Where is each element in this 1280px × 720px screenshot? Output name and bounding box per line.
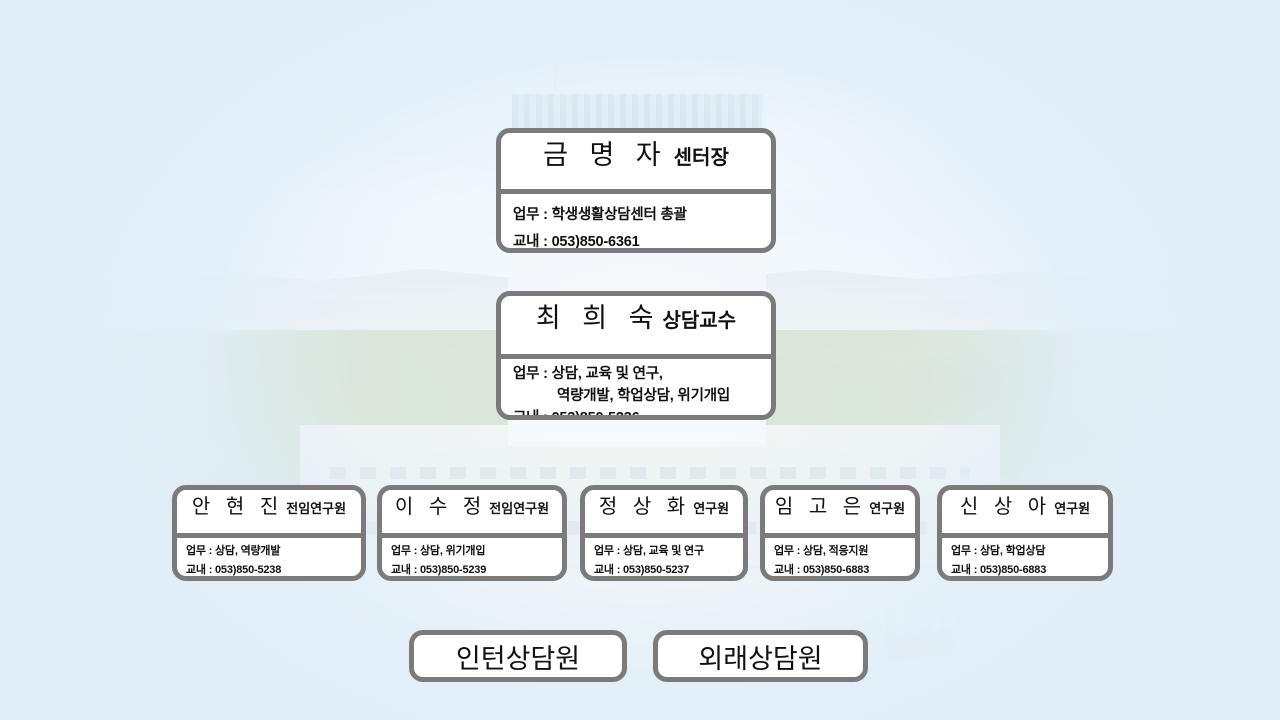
node-header: 정 상 화 연구원 [585,490,743,533]
org-chart-slide: 금 명 자 센터장 업무 : 학생생활상담센터 총괄 교내 : 053)850-… [0,0,1280,720]
org-node-researcher[interactable]: 신 상 아 연구원 업무 : 상담, 학업상담 교내 : 053)850-688… [937,485,1113,581]
org-node-visiting-counselor[interactable]: 외래상담원 [653,630,868,682]
org-node-counseling-professor[interactable]: 최 희 숙 상담교수 업무 : 상담, 교육 및 연구, 역량개발, 학업상담,… [496,291,776,420]
person-name: 안 현 진 [192,490,283,519]
node-label: 외래상담원 [698,637,822,676]
person-role: 연구원 [693,498,729,517]
duty-line: 업무 : 상담, 학업상담 [951,542,1102,561]
node-label: 인턴상담원 [456,637,580,676]
duty-line-2: 역량개발, 학업상담, 위기개입 [513,385,761,407]
duty-line: 업무 : 상담, 적응지원 [774,542,909,561]
duty-line: 업무 : 상담, 교육 및 연구, [513,363,761,385]
duty-line: 업무 : 상담, 역량개발 [186,542,355,561]
phone-line: 교내 : 053)850-5236 [513,407,761,420]
person-role: 연구원 [1054,498,1090,517]
person-name: 정 상 화 [599,490,690,519]
org-chart: 금 명 자 센터장 업무 : 학생생활상담센터 총괄 교내 : 053)850-… [0,0,1280,720]
duty-line: 업무 : 상담, 교육 및 연구 [594,542,737,561]
org-node-researcher[interactable]: 이 수 정 전임연구원 업무 : 상담, 위기개입 교내 : 053)850-5… [377,485,567,581]
org-node-researcher[interactable]: 안 현 진 전임연구원 업무 : 상담, 역량개발 교내 : 053)850-5… [172,485,366,581]
duty-line: 업무 : 상담, 위기개입 [391,542,556,561]
person-role: 전임연구원 [489,498,549,517]
phone-line: 교내 : 053)850-6883 [774,561,909,580]
node-header: 금 명 자 센터장 [501,133,771,189]
node-body: 업무 : 상담, 위기개입 교내 : 053)850-5239 [382,538,562,581]
person-name: 신 상 아 [960,490,1051,519]
node-body: 업무 : 상담, 적응지원 교내 : 053)850-6883 [765,538,915,581]
person-role: 전임연구원 [286,498,346,517]
node-header: 이 수 정 전임연구원 [382,490,562,533]
person-name: 이 수 정 [395,490,486,519]
org-node-researcher[interactable]: 임 고 은 연구원 업무 : 상담, 적응지원 교내 : 053)850-688… [760,485,920,581]
node-header: 임 고 은 연구원 [765,490,915,533]
node-body: 업무 : 상담, 교육 및 연구 교내 : 053)850-5237 [585,538,743,581]
person-name: 금 명 자 [543,133,668,172]
duty-line: 업무 : 학생생활상담센터 총괄 [513,202,761,229]
node-body: 업무 : 상담, 교육 및 연구, 역량개발, 학업상담, 위기개입 교내 : … [501,359,771,420]
node-header: 최 희 숙 상담교수 [501,296,771,354]
node-header: 신 상 아 연구원 [942,490,1108,533]
phone-line: 교내 : 053)850-5238 [186,561,355,580]
phone-line: 교내 : 053)850-6883 [951,561,1102,580]
person-role: 상담교수 [662,304,736,333]
node-body: 업무 : 학생생활상담센터 총괄 교내 : 053)850-6361 [501,194,771,253]
person-name: 임 고 은 [775,490,866,519]
person-name: 최 희 숙 [536,296,661,335]
node-body: 업무 : 상담, 학업상담 교내 : 053)850-6883 [942,538,1108,581]
org-node-center-director[interactable]: 금 명 자 센터장 업무 : 학생생활상담센터 총괄 교내 : 053)850-… [496,128,776,253]
org-node-intern-counselor[interactable]: 인턴상담원 [409,630,627,682]
phone-line: 교내 : 053)850-5239 [391,561,556,580]
person-role: 센터장 [674,141,729,170]
phone-line: 교내 : 053)850-6361 [513,229,761,253]
org-node-researcher[interactable]: 정 상 화 연구원 업무 : 상담, 교육 및 연구 교내 : 053)850-… [580,485,748,581]
node-header: 안 현 진 전임연구원 [177,490,361,533]
node-body: 업무 : 상담, 역량개발 교내 : 053)850-5238 [177,538,361,581]
person-role: 연구원 [869,498,905,517]
phone-line: 교내 : 053)850-5237 [594,561,737,580]
